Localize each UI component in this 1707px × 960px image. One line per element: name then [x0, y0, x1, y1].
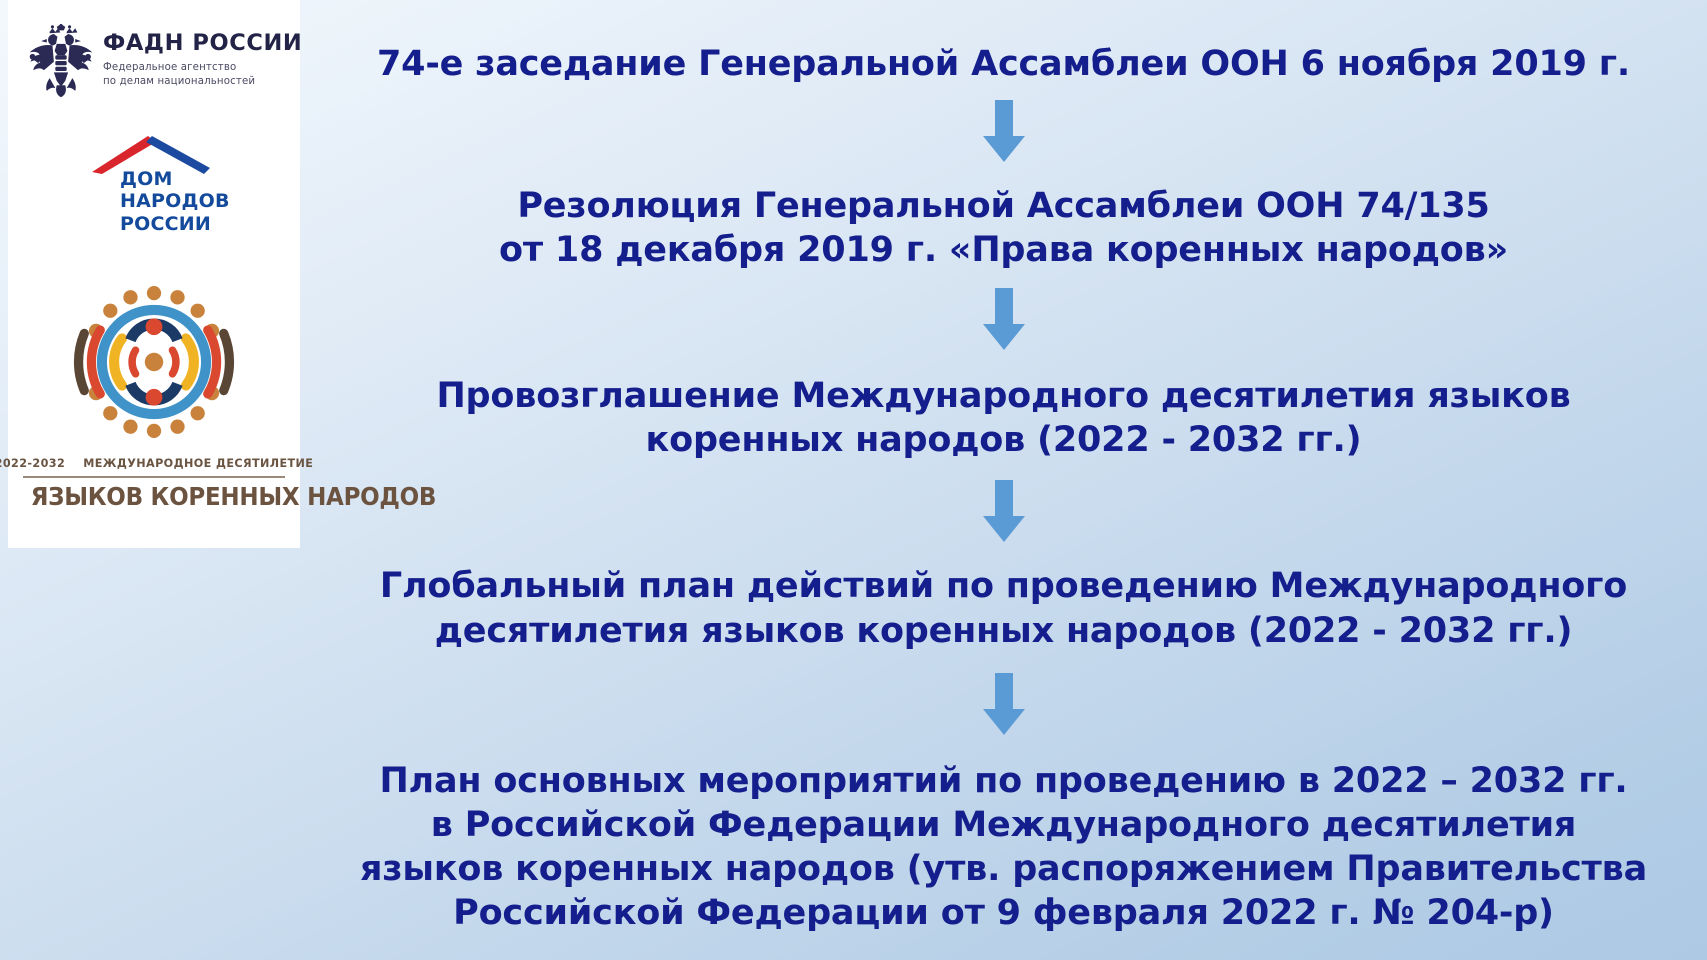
step-resolution-line-1: Резолюция Генеральной Ассамблеи ООН 74/1… — [326, 184, 1681, 228]
indigenous-languages-decade-emblem-icon — [70, 278, 238, 446]
step-russia-plan-line-4: Российской Федерации от 9 февраля 2022 г… — [326, 891, 1681, 935]
dom-narodov-line-1: ДОМ — [120, 168, 230, 190]
decade-caption-top-row: 2022-2032 МЕЖДУНАРОДНОЕ ДЕСЯТИЛЕТИЕ — [20, 456, 288, 471]
dom-narodov-wordmark: ДОМ НАРОДОВ РОССИИ — [120, 168, 230, 235]
step-russia-plan-line-3: языков коренных народов (утв. распоряжен… — [326, 847, 1681, 891]
step-proclamation-line-1: Провозглашение Международного десятилети… — [326, 374, 1681, 418]
fadn-logo: ФАДН РОССИИ Федеральное агентство по дел… — [25, 22, 283, 98]
logo-panel: ФАДН РОССИИ Федеральное агентство по дел… — [8, 0, 300, 548]
decade-wordmark: 2022-2032 МЕЖДУНАРОДНОЕ ДЕСЯТИЛЕТИЕ ЯЗЫК… — [20, 456, 288, 511]
decade-caption-top: МЕЖДУНАРОДНОЕ ДЕСЯТИЛЕТИЕ — [83, 457, 313, 470]
fadn-subtitle-line-2: по делам национальностей — [103, 75, 302, 89]
dom-narodov-line-2: НАРОДОВ — [120, 190, 230, 212]
double-headed-eagle-emblem-icon — [25, 24, 97, 98]
step-global-plan-line-1: Глобальный план действий по проведению М… — [326, 564, 1681, 608]
fadn-subtitle-line-1: Федеральное агентство — [103, 61, 302, 75]
step-russia-plan-line-2: в Российской Федерации Международного де… — [326, 803, 1681, 847]
fadn-subtitle: Федеральное агентство по делам националь… — [103, 61, 302, 89]
step-proclamation-line-2: коренных народов (2022 - 2032 гг.) — [326, 418, 1681, 462]
decade-caption-bottom: ЯЗЫКОВ КОРЕННЫХ НАРОДОВ — [31, 482, 278, 511]
dom-narodov-logo: ДОМ НАРОДОВ РОССИИ — [74, 134, 234, 252]
step-global-plan: Глобальный план действий по проведению М… — [300, 564, 1707, 652]
step-un-session: 74-е заседание Генеральной Ассамблеи ООН… — [300, 42, 1707, 86]
slide-canvas: ФАДН РОССИИ Федеральное агентство по дел… — [0, 0, 1707, 960]
flow-diagram: 74-е заседание Генеральной Ассамблеи ООН… — [300, 0, 1707, 960]
arrow-down-icon — [980, 100, 1028, 162]
arrow-down-icon — [980, 673, 1028, 735]
arrow-down-icon — [980, 480, 1028, 542]
step-russia-plan-line-1: План основных мероприятий по проведению … — [326, 759, 1681, 803]
step-resolution-line-2: от 18 декабря 2019 г. «Права коренных на… — [326, 228, 1681, 272]
arrow-down-icon — [980, 288, 1028, 350]
dom-narodov-line-3: РОССИИ — [120, 213, 230, 235]
step-resolution: Резолюция Генеральной Ассамблеи ООН 74/1… — [300, 184, 1707, 272]
step-un-session-line-1: 74-е заседание Генеральной Ассамблеи ООН… — [326, 42, 1681, 86]
decade-rule-divider — [23, 476, 285, 478]
decade-years: 2022-2032 — [0, 457, 65, 470]
fadn-wordmark: ФАДН РОССИИ Федеральное агентство по дел… — [103, 22, 302, 89]
fadn-title: ФАДН РОССИИ — [103, 32, 302, 55]
step-global-plan-line-2: десятилетия языков коренных народов (202… — [326, 609, 1681, 653]
step-russia-plan: План основных мероприятий по проведению … — [300, 759, 1707, 935]
step-proclamation: Провозглашение Международного десятилети… — [300, 374, 1707, 462]
